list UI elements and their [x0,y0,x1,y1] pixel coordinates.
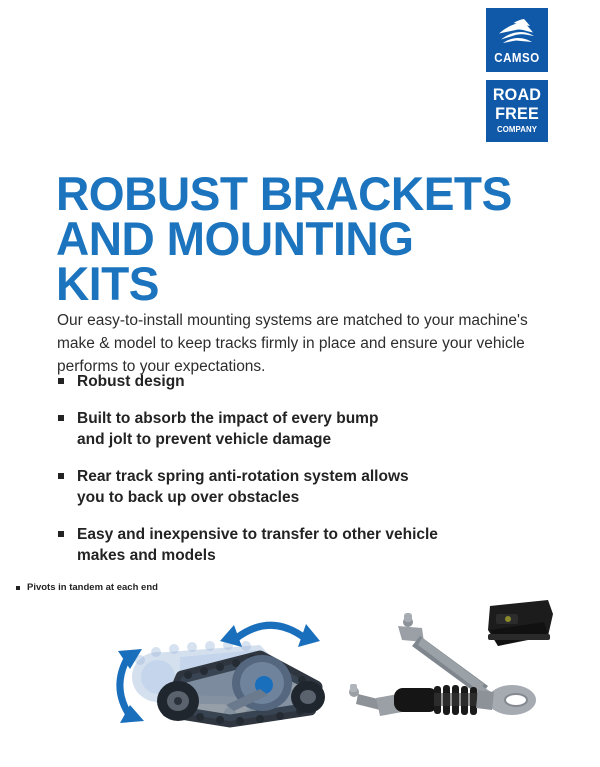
camso-wordmark: CAMSO [488,51,545,65]
list-item: Robust design [57,371,537,392]
brand-logo-stack: CAMSO ROAD FREE COMPANY [486,8,548,142]
square-bullet-icon [16,586,20,590]
list-item-line: and jolt to prevent vehicle damage [77,429,537,450]
camso-logo-block: CAMSO [486,8,548,72]
camso-mountain-mark-icon [498,18,536,44]
list-item-line: makes and models [77,545,537,566]
list-item: Easy and inexpensive to transfer to othe… [57,524,537,566]
page-title-line-1: ROBUST BRACKETS [56,171,517,216]
square-bullet-icon [58,415,64,421]
list-item: Built to absorb the impact of every bump… [57,408,537,450]
logo-line-free: FREE [488,105,547,122]
page-root: { "brand": { "logo_primary": { "icon": "… [0,0,600,767]
mounting-bracket-part [488,600,553,646]
page-title: ROBUST BRACKETS AND MOUNTING KITS [56,171,526,306]
feature-list: Robust design Built to absorb the impact… [57,371,537,582]
list-item-line: Easy and inexpensive to transfer to othe… [77,524,537,545]
curved-double-arrow-icon [220,624,320,647]
square-bullet-icon [58,473,64,479]
page-title-line-2: AND MOUNTING KITS [56,216,517,306]
square-bullet-icon [58,378,64,384]
anti-rotation-hardware-photo [338,600,553,728]
figure-zone [0,600,600,730]
footnote-text: Pivots in tandem at each end [27,582,158,593]
list-item-line: you to back up over obstacles [77,487,537,508]
road-free-lines: ROAD FREE COMPANY [486,86,548,134]
rubber-track-system-illustration [110,605,340,730]
square-bullet-icon [58,531,64,537]
list-item-line: Rear track spring anti-rotation system a… [77,466,537,487]
logo-line-company: COMPANY [488,125,545,134]
list-item: Rear track spring anti-rotation system a… [57,466,537,508]
footnote: Pivots in tandem at each end [16,581,158,594]
logo-line-road: ROAD [488,86,547,103]
list-item-line: Robust design [77,371,537,392]
intro-paragraph: Our easy-to-install mounting systems are… [57,309,535,378]
list-item-line: Built to absorb the impact of every bump [77,408,537,429]
spring-damper-part [349,684,494,716]
road-free-company-logo-block: ROAD FREE COMPANY [486,80,548,142]
